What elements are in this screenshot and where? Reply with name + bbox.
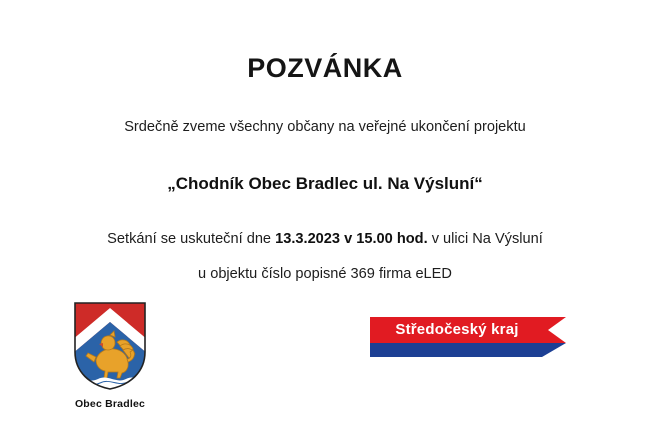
stredocesky-kraj-logo-icon [370,317,566,359]
crest-caption: Obec Bradlec [44,398,176,410]
stredocesky-kraj-logo: Středočeský kraj [370,317,566,359]
meeting-datetime-text: 13.3.2023 v 15.00 hod. [275,231,428,247]
invitation-page: POZVÁNKA Srdečně zveme všechny občany na… [0,0,650,427]
page-title: POZVÁNKA [0,54,650,84]
municipality-crest-block: Obec Bradlec [44,300,176,410]
meeting-suffix-text: v ulici Na Výsluní [428,231,543,247]
invitation-line: Srdečně zveme všechny občany na veřejné … [0,118,650,136]
coat-of-arms-icon [72,300,148,392]
address-line: u objektu číslo popisné 369 firma eLED [0,265,650,283]
project-name-line: „Chodník Obec Bradlec ul. Na Výsluní“ [0,173,650,194]
meeting-datetime-line: Setkání se uskuteční dne 13.3.2023 v 15.… [0,230,650,248]
meeting-prefix-text: Setkání se uskuteční dne [107,231,275,247]
